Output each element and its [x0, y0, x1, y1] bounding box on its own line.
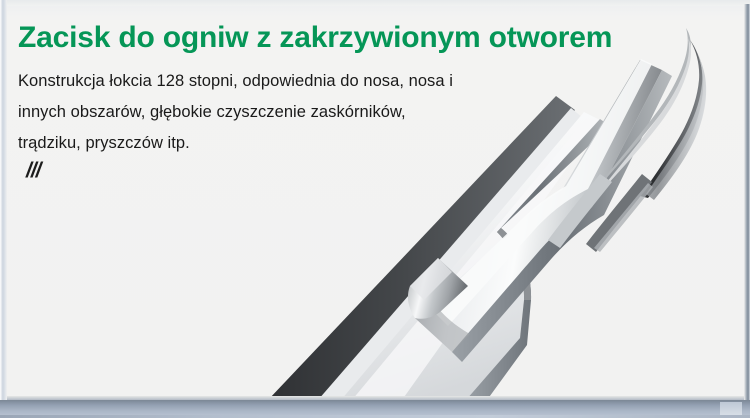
product-banner-screenshot: Zacisk do ogniw z zakrzywionym otworem K… [0, 0, 750, 418]
product-description: Konstrukcja łokcia 128 stopni, odpowiedn… [18, 66, 473, 159]
panel-left-edge [0, 0, 7, 400]
product-copy-block: Zacisk do ogniw z zakrzywionym otworem K… [18, 16, 618, 181]
accent-slashes-mark: /// [26, 160, 618, 181]
footer-corner-notch [720, 402, 742, 415]
panel-right-edge [744, 4, 750, 400]
footer-bar [0, 400, 750, 418]
product-card-panel: Zacisk do ogniw z zakrzywionym otworem K… [0, 0, 750, 418]
product-title: Zacisk do ogniw z zakrzywionym otworem [18, 16, 618, 60]
panel-top-edge [6, 0, 750, 6]
